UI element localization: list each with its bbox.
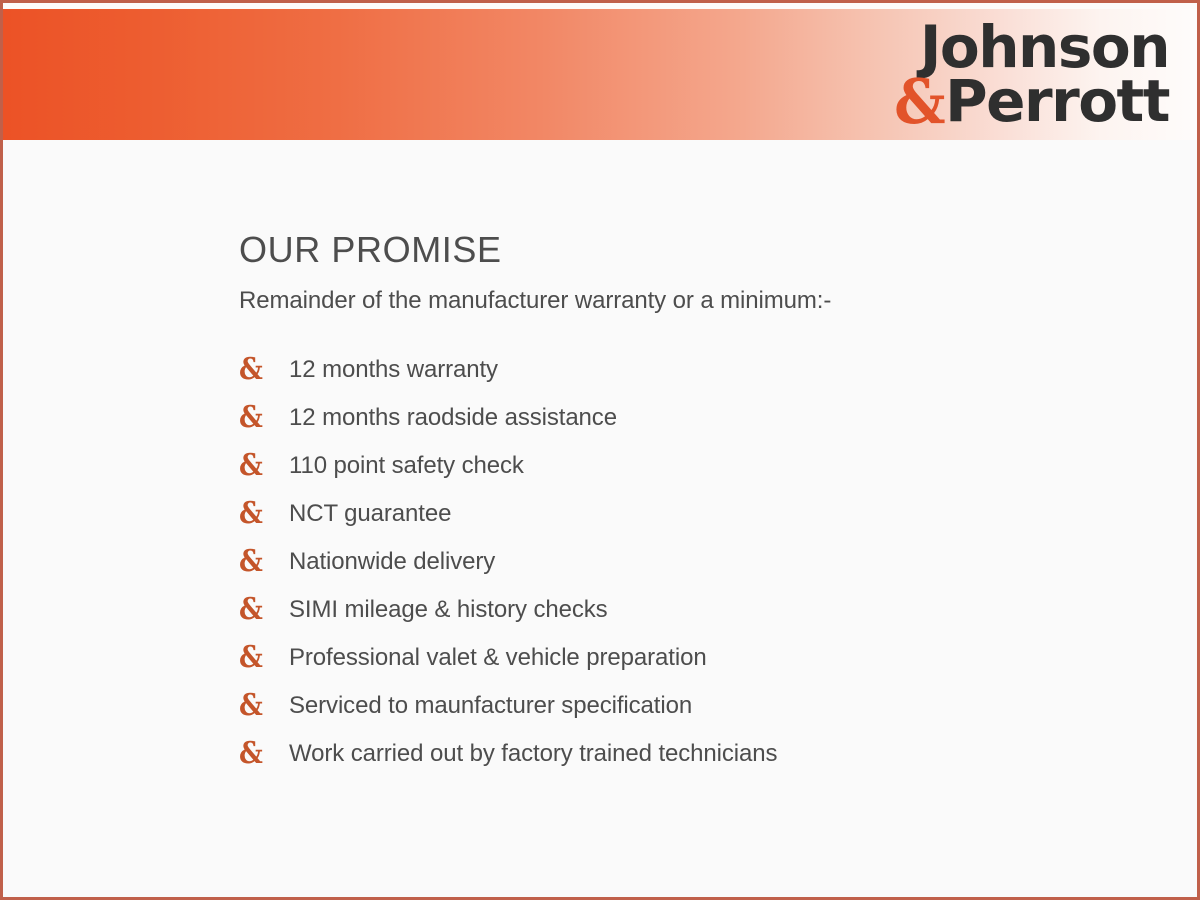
list-item: & SIMI mileage & history checks — [239, 586, 1157, 634]
ampersand-bullet-icon: & — [239, 499, 283, 529]
list-item: & 12 months raodside assistance — [239, 394, 1157, 442]
list-item: & NCT guarantee — [239, 490, 1157, 538]
promise-poster: Johnson & Perrott OUR PROMISE Remainder … — [0, 0, 1200, 900]
ampersand-bullet-icon: & — [239, 595, 283, 625]
list-item-label: 12 months raodside assistance — [289, 404, 617, 432]
list-item: & Professional valet & vehicle preparati… — [239, 634, 1157, 682]
ampersand-bullet-icon: & — [239, 643, 283, 673]
ampersand-bullet-icon: & — [239, 547, 283, 577]
list-item-label: Nationwide delivery — [289, 548, 495, 576]
list-item: & Serviced to maunfacturer specification — [239, 682, 1157, 730]
promise-subtitle: Remainder of the manufacturer warranty o… — [239, 287, 1157, 316]
list-item-label: SIMI mileage & history checks — [289, 596, 608, 624]
ampersand-icon: & — [894, 75, 942, 128]
list-item: & 110 point safety check — [239, 442, 1157, 490]
logo-word-perrott: Perrott — [945, 77, 1169, 127]
ampersand-bullet-icon: & — [239, 355, 283, 385]
ampersand-bullet-icon: & — [239, 451, 283, 481]
list-item-label: 110 point safety check — [289, 452, 524, 480]
list-item-label: Serviced to maunfacturer specification — [289, 692, 692, 720]
johnson-perrott-logo: Johnson & Perrott — [892, 23, 1169, 127]
promise-list: & 12 months warranty & 12 months raodsid… — [239, 346, 1157, 778]
list-item: & 12 months warranty — [239, 346, 1157, 394]
list-item: & Work carried out by factory trained te… — [239, 730, 1157, 778]
ampersand-bullet-icon: & — [239, 691, 283, 721]
list-item-label: Work carried out by factory trained tech… — [289, 740, 777, 768]
list-item-label: Professional valet & vehicle preparation — [289, 644, 707, 672]
ampersand-bullet-icon: & — [239, 403, 283, 433]
list-item-label: NCT guarantee — [289, 500, 451, 528]
logo-line-perrott: & Perrott — [892, 73, 1169, 127]
list-item: & Nationwide delivery — [239, 538, 1157, 586]
page-title: OUR PROMISE — [239, 231, 1157, 269]
header-gradient-band: Johnson & Perrott — [3, 9, 1197, 140]
main-content: OUR PROMISE Remainder of the manufacture… — [239, 231, 1157, 778]
list-item-label: 12 months warranty — [289, 356, 498, 384]
ampersand-bullet-icon: & — [239, 739, 283, 769]
